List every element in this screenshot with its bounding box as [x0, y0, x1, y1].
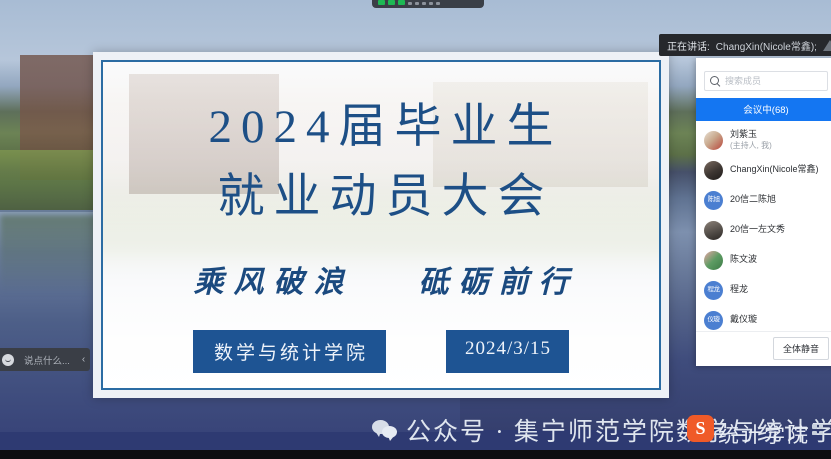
avatar: 程龙 [704, 281, 723, 300]
participant-role: (主持人, 我) [730, 140, 772, 151]
toolbar-button-icon[interactable] [436, 2, 440, 5]
participant-name: 20信一左文秀 [730, 224, 785, 235]
list-item[interactable]: 刘紫玉 (主持人, 我) [696, 125, 831, 155]
avatar [704, 131, 723, 150]
mute-all-button[interactable]: 全体静音 [773, 337, 829, 360]
grid-view-icon[interactable] [812, 424, 823, 435]
list-item[interactable]: 程龙 程龙 [696, 275, 831, 305]
screen-share-toolbar[interactable] [372, 0, 484, 8]
avatar [704, 221, 723, 240]
toolbar-button-icon[interactable] [415, 2, 419, 5]
slide-subtitle: 乘风破浪 砥砺前行 [103, 257, 659, 301]
slide-subtitle-right: 砥砺前行 [419, 266, 579, 299]
chat-input-bar[interactable]: 说点什么... ‹ [0, 348, 90, 371]
toolbar-button-icon[interactable] [408, 2, 412, 5]
sharing-indicator-icon [378, 0, 385, 5]
sharing-indicator-icon [388, 0, 395, 5]
list-item[interactable]: 仪璇 戴仪璇 [696, 305, 831, 331]
participant-list[interactable]: 刘紫玉 (主持人, 我) ChangXin(Nicole常鑫) 陈旭 20信二陈… [696, 123, 831, 331]
sharing-indicator-icon [398, 0, 405, 5]
slide-canvas: 2024届毕业生 就业动员大会 乘风破浪 砥砺前行 数学与统计学院 2024/3… [101, 60, 661, 390]
app-logo-badge: S [687, 415, 714, 442]
participant-name: 程龙 [730, 284, 748, 295]
toolbar-button-icon[interactable] [429, 2, 433, 5]
shared-slide: 2024届毕业生 就业动员大会 乘风破浪 砥砺前行 数学与统计学院 2024/3… [93, 52, 669, 398]
speaking-name: ChangXin(Nicole常鑫); [716, 38, 817, 53]
slide-subtitle-left: 乘风破浪 [194, 266, 354, 299]
participant-name: 刘紫玉 [730, 129, 772, 140]
slide-pill-row: 数学与统计学院 2024/3/15 [103, 330, 659, 373]
slide-date-pill: 2024/3/15 [446, 330, 569, 373]
participants-panel-footer: 全体静音 [696, 331, 831, 366]
list-item[interactable]: ChangXin(Nicole常鑫) [696, 155, 831, 185]
slide-title-line-1: 2024届毕业生 [103, 104, 659, 151]
speaking-indicator: 正在讲话: ChangXin(Nicole常鑫); [659, 34, 831, 56]
bottom-strip [0, 450, 831, 459]
slide-title-line-2: 就业动员大会 [103, 174, 659, 221]
participants-panel: 会议中(68) 刘紫玉 (主持人, 我) ChangXin(Nicole常鑫) … [696, 58, 831, 366]
participant-name: 戴仪璇 [730, 314, 757, 325]
search-input[interactable] [725, 76, 822, 86]
meeting-screen: 正在讲话: ChangXin(Nicole常鑫); 2024届毕业生 就业动员大… [0, 0, 831, 459]
search-icon [710, 76, 721, 87]
avatar [704, 251, 723, 270]
list-item[interactable]: 陈文波 [696, 245, 831, 275]
avatar [704, 161, 723, 180]
audio-wave-icon [823, 40, 831, 51]
participant-name: ChangXin(Nicole常鑫) [730, 164, 819, 175]
emoji-icon[interactable] [2, 354, 14, 366]
collapse-chat-icon[interactable]: ‹ [80, 354, 85, 365]
participant-name: 陈文波 [730, 254, 757, 265]
member-search-box[interactable] [704, 71, 828, 91]
toolbar-button-icon[interactable] [422, 2, 426, 5]
list-item[interactable]: 陈旭 20信二陈旭 [696, 185, 831, 215]
list-item[interactable]: 20信一左文秀 [696, 215, 831, 245]
participant-name: 20信二陈旭 [730, 194, 776, 205]
wechat-icon [372, 420, 398, 440]
speaking-label: 正在讲话: [667, 38, 710, 53]
avatar: 陈旭 [704, 191, 723, 210]
slide-department-pill: 数学与统计学院 [193, 330, 386, 373]
app-logo-text: 统计学院 [718, 419, 810, 449]
avatar: 仪璇 [704, 311, 723, 330]
chat-input-placeholder[interactable]: 说点什么... [24, 353, 70, 367]
tab-in-meeting[interactable]: 会议中(68) [696, 98, 831, 121]
